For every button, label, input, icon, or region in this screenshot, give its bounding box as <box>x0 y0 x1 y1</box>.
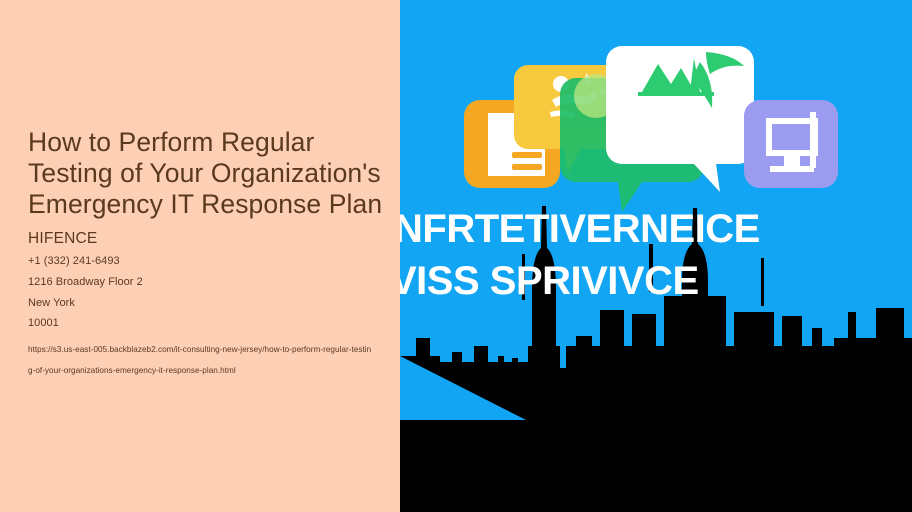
poster-canvas: How to Perform Regular Testing of Your O… <box>0 0 912 512</box>
postal-code: 10001 <box>28 313 390 334</box>
phone-number: +1 (332) 241-6493 <box>28 251 390 272</box>
organization-name: HIFENCE <box>28 228 390 249</box>
city-name: New York <box>28 293 390 314</box>
text-block: How to Perform Regular Testing of Your O… <box>28 127 390 381</box>
monitor-card-icon <box>744 100 838 188</box>
street-address: 1216 Broadway Floor 2 <box>28 272 390 293</box>
page-title: How to Perform Regular Testing of Your O… <box>28 127 390 220</box>
hero-image-panel: NFRTETIVERNEICE VISS SPRIVIVCE <box>400 0 912 512</box>
hero-illustration <box>400 0 912 512</box>
left-info-panel: How to Perform Regular Testing of Your O… <box>0 0 400 512</box>
source-url-link[interactable]: https://s3.us-east-005.backblazeb2.com/i… <box>28 340 373 381</box>
